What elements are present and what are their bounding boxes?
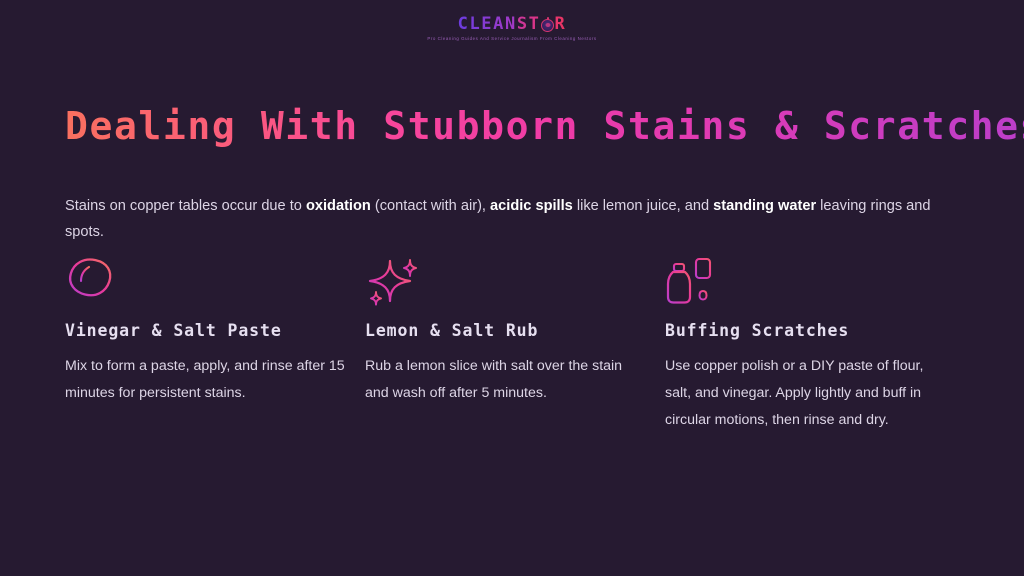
tip-body: Use copper polish or a DIY paste of flou… bbox=[665, 353, 951, 434]
tip-body: Mix to form a paste, apply, and rinse af… bbox=[65, 353, 348, 407]
brand-tagline: Pro Cleaning Guides And Service Journali… bbox=[427, 36, 596, 41]
tip-title: Buffing Scratches bbox=[665, 321, 965, 340]
polish-bottle-icon bbox=[665, 255, 965, 311]
tip-body: Rub a lemon slice with salt over the sta… bbox=[365, 353, 648, 407]
intro-text-1: Stains on copper tables occur due to bbox=[65, 198, 306, 214]
tip-title: Lemon & Salt Rub bbox=[365, 321, 665, 340]
tip-card-vinegar-salt-paste: Vinegar & Salt Paste Mix to form a paste… bbox=[65, 255, 365, 434]
tip-card-lemon-salt-rub: Lemon & Salt Rub Rub a lemon slice with … bbox=[365, 255, 665, 434]
page-title: Dealing With Stubborn Stains & Scratches bbox=[65, 104, 1024, 148]
tip-card-buffing-scratches: Buffing Scratches Use copper polish or a… bbox=[665, 255, 965, 434]
tips-columns: Vinegar & Salt Paste Mix to form a paste… bbox=[65, 255, 965, 434]
brand-name-clean: CLEAN bbox=[458, 14, 517, 34]
intro-paragraph: Stains on copper tables occur due to oxi… bbox=[65, 193, 955, 245]
sparkles-icon bbox=[365, 255, 665, 311]
intro-bold-standing-water: standing water bbox=[713, 198, 816, 214]
brand-wordmark: CLEANSTR bbox=[458, 14, 567, 34]
tip-title: Vinegar & Salt Paste bbox=[65, 321, 365, 340]
intro-text-3: like lemon juice, and bbox=[573, 198, 713, 214]
lemon-icon bbox=[65, 255, 365, 311]
brand-logo: CLEANSTR Pro Cleaning Guides And Service… bbox=[0, 14, 1024, 41]
intro-bold-oxidation: oxidation bbox=[306, 198, 371, 214]
brand-name-r: R bbox=[555, 14, 567, 34]
brand-name-st: ST bbox=[517, 14, 541, 34]
intro-bold-acidic-spills: acidic spills bbox=[490, 198, 573, 214]
intro-text-2: (contact with air), bbox=[371, 198, 490, 214]
logo-orb-icon bbox=[541, 19, 554, 32]
